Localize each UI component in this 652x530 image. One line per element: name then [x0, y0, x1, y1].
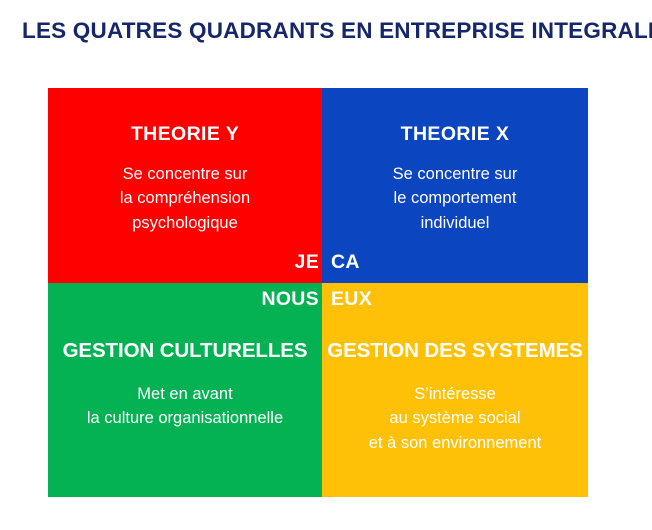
quadrant-theory-y[interactable]: THEORIE Y Se concentre sur la compréhens…	[48, 88, 322, 283]
quadrant-theory-x-body-line-2: le comportement	[328, 186, 582, 210]
quadrant-matrix: THEORIE Y Se concentre sur la compréhens…	[48, 88, 588, 497]
quadrant-gestion-culturelles-body-line-2: la culture organisationnelle	[54, 406, 316, 430]
axis-label-nous: NOUS	[261, 290, 319, 310]
quadrant-gestion-des-systemes-body-line-3: et à son environnement	[328, 431, 582, 455]
quadrant-gestion-des-systemes-body-line-1: S’intéresse	[328, 382, 582, 406]
page-title: LES QUATRES QUADRANTS EN ENTREPRISE INTE…	[22, 18, 632, 44]
axis-label-je: JE	[295, 253, 319, 273]
quadrant-theory-x-body-line-3: individuel	[328, 211, 582, 235]
quadrant-theory-y-body-line-3: psychologique	[54, 211, 316, 235]
quadrant-gestion-culturelles-heading: GESTION CULTURELLES	[48, 340, 322, 363]
quadrant-gestion-culturelles[interactable]: NOUS GESTION CULTURELLES Met en avant la…	[48, 283, 322, 497]
quadrant-theory-y-heading: THEORIE Y	[48, 124, 322, 145]
quadrant-theory-x[interactable]: THEORIE X Se concentre sur le comporteme…	[322, 88, 588, 283]
quadrant-theory-y-body-line-2: la compréhension	[54, 186, 316, 210]
quadrant-theory-y-body-line-1: Se concentre sur	[54, 162, 316, 186]
axis-label-eux: EUX	[331, 290, 372, 310]
axis-label-ca: CA	[331, 253, 360, 273]
quadrant-theory-x-body-line-1: Se concentre sur	[328, 162, 582, 186]
quadrant-gestion-des-systemes-heading: GESTION DES SYSTEMES	[322, 340, 588, 363]
quadrant-gestion-des-systemes-body: S’intéresse au système social et à son e…	[328, 382, 582, 455]
quadrant-theory-y-body: Se concentre sur la compréhension psycho…	[54, 162, 316, 235]
quadrant-theory-x-heading: THEORIE X	[322, 124, 588, 145]
quadrant-gestion-des-systemes-body-line-2: au système social	[328, 406, 582, 430]
quadrant-gestion-des-systemes[interactable]: EUX GESTION DES SYSTEMES S’intéresse au …	[322, 283, 588, 497]
quadrant-gestion-culturelles-body-line-1: Met en avant	[54, 382, 316, 406]
slide-canvas: LES QUATRES QUADRANTS EN ENTREPRISE INTE…	[0, 0, 652, 530]
quadrant-theory-x-body: Se concentre sur le comportement individ…	[328, 162, 582, 235]
quadrant-gestion-culturelles-body: Met en avant la culture organisationnell…	[54, 382, 316, 431]
